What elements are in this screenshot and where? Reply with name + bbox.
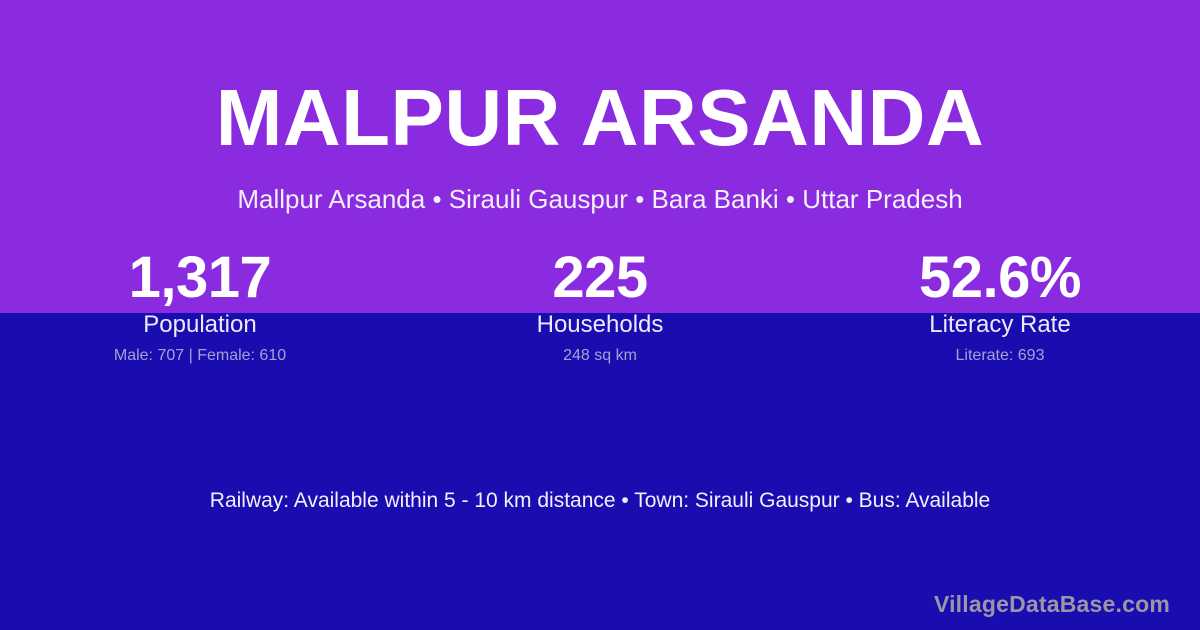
amenities-line: Railway: Available within 5 - 10 km dist… — [0, 488, 1200, 514]
stat-label: Households — [400, 312, 800, 338]
stat-label: Population — [0, 312, 400, 338]
stat-value: 1,317 — [0, 248, 400, 308]
stat-literacy-rate: 52.6% Literacy Rate Literate: 693 — [800, 248, 1200, 365]
stat-households: 225 Households 248 sq km — [400, 248, 800, 365]
breadcrumb: Mallpur Arsanda • Sirauli Gauspur • Bara… — [0, 185, 1200, 215]
stat-population: 1,317 Population Male: 707 | Female: 610 — [0, 248, 400, 365]
site-brand: VillageDataBase.com — [934, 590, 1170, 618]
stat-value: 225 — [400, 248, 800, 308]
stat-detail: 248 sq km — [400, 347, 800, 365]
page-title: MALPUR ARSANDA — [0, 78, 1200, 158]
village-info-card: MALPUR ARSANDA Mallpur Arsanda • Sirauli… — [0, 0, 1200, 630]
stat-detail: Literate: 693 — [800, 347, 1200, 365]
card-header: MALPUR ARSANDA Mallpur Arsanda • Sirauli… — [0, 0, 1200, 215]
stat-value: 52.6% — [800, 248, 1200, 308]
stat-detail: Male: 707 | Female: 610 — [0, 347, 400, 365]
stat-label: Literacy Rate — [800, 312, 1200, 338]
stats-row: 1,317 Population Male: 707 | Female: 610… — [0, 248, 1200, 365]
